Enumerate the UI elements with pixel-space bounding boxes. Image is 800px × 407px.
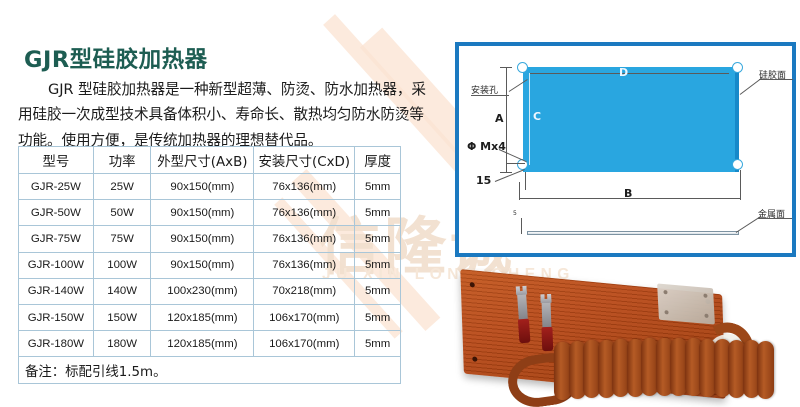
table-note: 备注：标配引线1.5m。	[19, 357, 401, 384]
table-cell-mount: 76x136(mm)	[254, 174, 355, 200]
technical-drawing: D C A B 安装孔 Φ Mx4 15 硅胶面 5	[455, 42, 796, 257]
column-header-outer-size: 外型尺寸(AxB)	[151, 147, 254, 174]
table-cell-thick: 5mm	[355, 252, 401, 278]
table-cell-thick: 5mm	[355, 174, 401, 200]
dimension-line-a	[506, 67, 507, 172]
table-cell-outer: 90x150(mm)	[151, 252, 254, 278]
table-cell-model: GJR-25W	[19, 174, 94, 200]
table-cell-mount: 76x136(mm)	[254, 200, 355, 226]
table-cell-power: 50W	[93, 200, 151, 226]
dimension-tick-a-top	[500, 67, 512, 68]
label-silicone-surface: 硅胶面	[759, 68, 786, 81]
pad-mounting-hole	[470, 282, 475, 288]
dimension-label-a: A	[495, 112, 504, 125]
table-cell-model: GJR-140W	[19, 278, 94, 304]
table-cell-power: 180W	[93, 331, 151, 357]
screw-icon	[664, 310, 668, 314]
left-content-column: GJR型硅胶加热器 GJR 型硅胶加热器是一种新型超薄、防烫、防水加热器，采用硅…	[0, 0, 440, 407]
heater-panel-illustration	[523, 67, 739, 172]
table-cell-model: GJR-100W	[19, 252, 94, 278]
label-metal-surface: 金属面	[758, 207, 785, 220]
column-header-power: 功率	[93, 147, 151, 174]
column-header-thickness: 厚度	[355, 147, 401, 174]
product-description: GJR 型硅胶加热器是一种新型超薄、防烫、防水加热器，采用硅胶一次成型技术具备体…	[18, 77, 430, 154]
specification-table: 型号 功率 外型尺寸(AxB) 安装尺寸(CxD) 厚度 GJR-25W25W9…	[18, 146, 401, 384]
table-cell-model: GJR-150W	[19, 304, 94, 330]
dimension-label-b: B	[624, 187, 632, 200]
table-cell-model: GJR-180W	[19, 331, 94, 357]
label-mounting-hole: 安装孔	[471, 83, 498, 96]
table-row: GJR-100W100W90x150(mm)76x136(mm)5mm	[19, 252, 401, 278]
table-cell-power: 75W	[93, 226, 151, 252]
table-row: GJR-150W150W120x185(mm)106x170(mm)5mm	[19, 304, 401, 330]
screw-icon	[663, 290, 667, 294]
table-cell-thick: 5mm	[355, 331, 401, 357]
dimension-line-d	[529, 73, 729, 74]
column-header-mount-size: 安装尺寸(CxD)	[254, 147, 355, 174]
table-cell-outer: 90x150(mm)	[151, 174, 254, 200]
page-title: GJR型硅胶加热器	[24, 42, 208, 74]
table-cell-outer: 120x185(mm)	[151, 331, 254, 357]
table-cell-outer: 90x150(mm)	[151, 226, 254, 252]
metal-mounting-plate	[657, 283, 715, 324]
table-cell-thick: 5mm	[355, 304, 401, 330]
mounting-hole-icon	[732, 159, 743, 170]
screw-icon	[703, 294, 707, 298]
table-note-row: 备注：标配引线1.5m。	[19, 357, 401, 384]
product-photo	[444, 268, 796, 407]
table-cell-mount: 76x136(mm)	[254, 252, 355, 278]
table-cell-mount: 70x218(mm)	[254, 278, 355, 304]
table-cell-thick: 5mm	[355, 278, 401, 304]
table-cell-outer: 100x230(mm)	[151, 278, 254, 304]
panel-right-edge	[735, 67, 739, 172]
dimension-tick-a-bottom	[500, 172, 512, 173]
cable-coil-turn	[757, 341, 774, 399]
mounting-hole-icon	[732, 62, 743, 73]
thickness-dimension-line	[521, 218, 522, 234]
table-row: GJR-50W50W90x150(mm)76x136(mm)5mm	[19, 200, 401, 226]
mounting-hole-icon	[517, 62, 528, 73]
table-row: GJR-25W25W90x150(mm)76x136(mm)5mm	[19, 174, 401, 200]
dimension-tick-hole-v	[525, 172, 526, 190]
table-cell-power: 100W	[93, 252, 151, 278]
table-row: GJR-140W140W100x230(mm)70x218(mm)5mm	[19, 278, 401, 304]
label-thread-spec: Φ Mx4	[467, 140, 506, 153]
table-header-row: 型号 功率 外型尺寸(AxB) 安装尺寸(CxD) 厚度	[19, 147, 401, 174]
metal-plate-side-view	[527, 231, 739, 235]
dimension-line-c	[529, 73, 530, 165]
dimension-label-c: C	[533, 110, 541, 123]
table-cell-power: 150W	[93, 304, 151, 330]
pad-mounting-hole	[472, 356, 477, 362]
screw-icon	[704, 314, 708, 318]
table-cell-model: GJR-50W	[19, 200, 94, 226]
table-cell-outer: 120x185(mm)	[151, 304, 254, 330]
table-row: GJR-180W180W120x185(mm)106x170(mm)5mm	[19, 331, 401, 357]
dimension-tick-b-left	[519, 182, 520, 200]
coiled-cable	[506, 320, 756, 406]
table-cell-model: GJR-75W	[19, 226, 94, 252]
table-cell-mount: 106x170(mm)	[254, 331, 355, 357]
dimension-tick-b-right	[740, 170, 741, 200]
dimension-label-d: D	[619, 66, 628, 79]
table-row: GJR-75W75W90x150(mm)76x136(mm)5mm	[19, 226, 401, 252]
label-edge-margin: 15	[476, 174, 491, 187]
table-cell-thick: 5mm	[355, 200, 401, 226]
table-cell-power: 140W	[93, 278, 151, 304]
thickness-dimension-label: 5	[513, 210, 517, 217]
table-cell-mount: 106x170(mm)	[254, 304, 355, 330]
column-header-model: 型号	[19, 147, 94, 174]
dimension-tick-hole	[507, 163, 525, 164]
table-cell-power: 25W	[93, 174, 151, 200]
table-cell-outer: 90x150(mm)	[151, 200, 254, 226]
table-cell-mount: 76x136(mm)	[254, 226, 355, 252]
leader-line-edge-margin	[495, 169, 525, 182]
table-cell-thick: 5mm	[355, 226, 401, 252]
